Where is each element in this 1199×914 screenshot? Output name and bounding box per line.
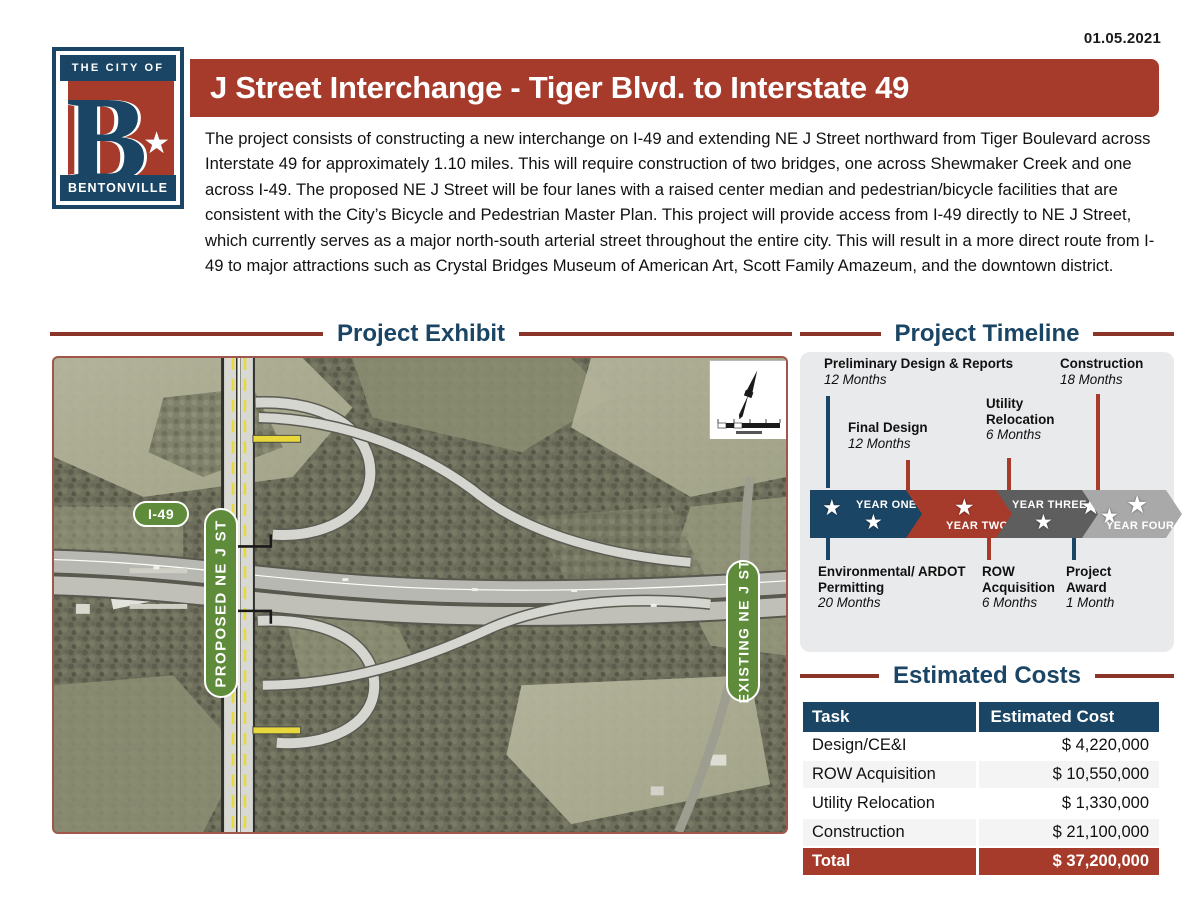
star-icon: ★ bbox=[954, 496, 975, 519]
rule-left bbox=[800, 332, 881, 336]
table-body: Design/CE&I $ 4,220,000 ROW Acquisition … bbox=[803, 732, 1159, 876]
map-label-proposed-text: PROPOSED NE J ST bbox=[213, 519, 230, 687]
star-icon: ★ bbox=[1126, 493, 1148, 518]
cell-total-cost: $ 37,200,000 bbox=[977, 847, 1159, 876]
timeline-duration: 18 Months bbox=[1060, 372, 1143, 388]
estimated-costs-table: Task Estimated Cost Design/CE&I $ 4,220,… bbox=[803, 702, 1159, 877]
table-total-row: Total $ 37,200,000 bbox=[803, 847, 1159, 876]
rule-left bbox=[50, 332, 323, 336]
timeline-year-bar: YEAR ONE ★ ★ YEAR TWO ★ YEAR THREE ★ ★ Y… bbox=[810, 490, 1164, 538]
timeline-connector-preliminary-design bbox=[826, 396, 830, 488]
timeline-title: Preliminary Design & Reports bbox=[824, 356, 1013, 372]
map-inset bbox=[709, 360, 787, 438]
page-title: J Street Interchange - Tiger Blvd. to In… bbox=[190, 70, 909, 106]
rule-right bbox=[1093, 332, 1174, 336]
star-icon: ★ bbox=[822, 497, 842, 519]
column-header-cost: Estimated Cost bbox=[977, 702, 1159, 732]
timeline-duration: 20 Months bbox=[818, 595, 968, 611]
document-date: 01.05.2021 bbox=[1084, 30, 1161, 47]
timeline-item-construction: Construction 18 Months bbox=[1060, 356, 1143, 388]
section-title-costs: Estimated Costs bbox=[879, 662, 1095, 690]
timeline-title: ROW Acquisition bbox=[982, 564, 1064, 595]
timeline-title: Project Award bbox=[1066, 564, 1142, 595]
project-description: The project consists of constructing a n… bbox=[205, 126, 1155, 278]
column-header-task: Task bbox=[803, 702, 977, 732]
cell-task: Utility Relocation bbox=[803, 789, 977, 818]
cell-task: Design/CE&I bbox=[803, 732, 977, 760]
table-header-row: Task Estimated Cost bbox=[803, 702, 1159, 732]
city-of-bentonville-logo: B B ★ THE CITY OF BENTONVILLE bbox=[52, 47, 184, 209]
section-header-exhibit: Project Exhibit bbox=[50, 320, 792, 348]
table-row: ROW Acquisition $ 10,550,000 bbox=[803, 760, 1159, 789]
cell-task: ROW Acquisition bbox=[803, 760, 977, 789]
timeline-connector-row-acquisition bbox=[987, 538, 991, 560]
timeline-duration: 1 Month bbox=[1066, 595, 1142, 611]
timeline-duration: 12 Months bbox=[824, 372, 1013, 388]
timeline-duration: 12 Months bbox=[848, 436, 928, 452]
rule-right bbox=[519, 332, 792, 336]
project-exhibit-map[interactable] bbox=[52, 356, 788, 834]
map-label-proposed-ne-j-st: PROPOSED NE J ST bbox=[204, 508, 238, 698]
star-icon: ★ bbox=[143, 129, 170, 159]
map-label-existing-ne-j-st: EXISTING NE J ST bbox=[726, 560, 760, 702]
timeline-item-project-award: Project Award 1 Month bbox=[1066, 564, 1142, 611]
timeline-connector-project-award bbox=[1072, 538, 1076, 560]
cell-cost: $ 10,550,000 bbox=[977, 760, 1159, 789]
cell-total-label: Total bbox=[803, 847, 977, 876]
timeline-title: Environmental/ ARDOT Permitting bbox=[818, 564, 968, 595]
cell-cost: $ 1,330,000 bbox=[977, 789, 1159, 818]
timeline-title: Final Design bbox=[848, 420, 928, 436]
table-head: Task Estimated Cost bbox=[803, 702, 1159, 732]
star-icon: ★ bbox=[1100, 506, 1119, 527]
timeline-title: Construction bbox=[1060, 356, 1143, 372]
timeline-connector-utility-relocation bbox=[1007, 458, 1011, 490]
section-header-timeline: Project Timeline bbox=[800, 320, 1174, 348]
cell-cost: $ 21,100,000 bbox=[977, 818, 1159, 847]
project-fact-sheet: 01.05.2021 B B ★ THE CITY OF BENTONVILLE… bbox=[0, 0, 1199, 914]
cell-task: Construction bbox=[803, 818, 977, 847]
timeline-item-preliminary-design: Preliminary Design & Reports 12 Months bbox=[824, 356, 1013, 388]
table-row: Construction $ 21,100,000 bbox=[803, 818, 1159, 847]
aerial-imagery bbox=[54, 358, 786, 832]
north-arrow-icon bbox=[710, 361, 788, 439]
rule-right bbox=[1095, 674, 1174, 678]
cell-cost: $ 4,220,000 bbox=[977, 732, 1159, 760]
project-timeline: Preliminary Design & Reports 12 Months F… bbox=[800, 352, 1174, 652]
table-row: Design/CE&I $ 4,220,000 bbox=[803, 732, 1159, 760]
section-title-timeline: Project Timeline bbox=[881, 320, 1094, 348]
star-icon: ★ bbox=[1034, 512, 1053, 533]
timeline-title: Utility Relocation bbox=[986, 396, 1064, 427]
timeline-item-final-design: Final Design 12 Months bbox=[848, 420, 928, 452]
section-header-costs: Estimated Costs bbox=[800, 662, 1174, 690]
timeline-duration: 6 Months bbox=[986, 427, 1064, 443]
timeline-connector-final-design bbox=[906, 460, 910, 490]
timeline-item-row-acquisition: ROW Acquisition 6 Months bbox=[982, 564, 1064, 611]
timeline-item-environmental-permitting: Environmental/ ARDOT Permitting 20 Month… bbox=[818, 564, 968, 611]
rule-left bbox=[800, 674, 879, 678]
timeline-connector-construction bbox=[1096, 394, 1100, 490]
year-label: YEAR THREE bbox=[1012, 499, 1087, 511]
section-title-exhibit: Project Exhibit bbox=[323, 320, 519, 348]
timeline-duration: 6 Months bbox=[982, 595, 1064, 611]
timeline-item-utility-relocation: Utility Relocation 6 Months bbox=[986, 396, 1064, 443]
year-label: YEAR TWO bbox=[946, 520, 1008, 532]
logo-bottom-text: BENTONVILLE bbox=[60, 175, 176, 201]
map-label-existing-text: EXISTING NE J ST bbox=[735, 559, 751, 704]
timeline-connector-environmental bbox=[826, 538, 830, 560]
table-row: Utility Relocation $ 1,330,000 bbox=[803, 789, 1159, 818]
logo-inner: B B ★ THE CITY OF BENTONVILLE bbox=[60, 55, 176, 201]
star-icon: ★ bbox=[864, 512, 883, 533]
title-banner: J Street Interchange - Tiger Blvd. to In… bbox=[190, 59, 1159, 117]
year-label: YEAR ONE bbox=[856, 499, 917, 511]
map-badge-i49: I-49 bbox=[133, 501, 189, 527]
logo-top-text: THE CITY OF bbox=[60, 55, 176, 81]
